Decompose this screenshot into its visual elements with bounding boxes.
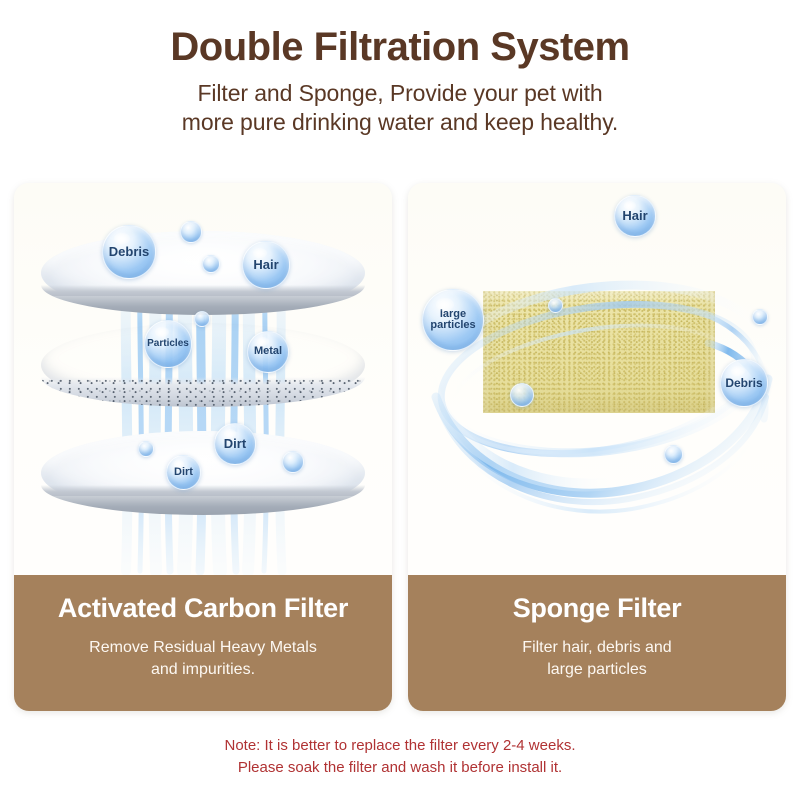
note-line-1: Note: It is better to replace the filter… xyxy=(0,735,800,757)
bubble-label-hair: Hair xyxy=(614,195,656,237)
decorative-bubble-1 xyxy=(180,221,202,243)
bubble-label-debris: Debris xyxy=(720,359,768,407)
filter-layer-cotton-top xyxy=(41,231,365,315)
bubble-label-particles: Particles xyxy=(144,320,192,368)
subtitle-line-1: Filter and Sponge, Provide your pet with xyxy=(0,79,800,108)
sponge-filter-caption-band: Sponge Filter Filter hair, debris and la… xyxy=(408,575,786,711)
decorative-bubble-9 xyxy=(664,445,683,464)
bubble-label-metal: Metal xyxy=(247,331,289,373)
bubble-label-debris-top: Debris xyxy=(102,225,156,279)
decorative-bubble-3 xyxy=(194,311,210,327)
activated-carbon-title: Activated Carbon Filter xyxy=(14,594,392,624)
sponge-filter-description: Filter hair, debris and large particles xyxy=(408,624,786,682)
header: Double Filtration System Filter and Spon… xyxy=(0,0,800,137)
subtitle-line-2: more pure drinking water and keep health… xyxy=(0,108,800,137)
note-line-2: Please soak the filter and wash it befor… xyxy=(0,757,800,779)
sponge-assembly: Hair large particles Debris xyxy=(408,183,786,575)
decorative-bubble-8 xyxy=(752,309,768,325)
sponge-filter-illustration: Hair large particles Debris xyxy=(408,183,786,575)
bubble-label-hair-top: Hair xyxy=(242,241,290,289)
activated-carbon-description: Remove Residual Heavy Metals and impurit… xyxy=(14,624,392,682)
filter-cards-container: Debris Hair Particles Metal Dirt Dirt Ac… xyxy=(14,183,786,711)
decorative-bubble-2 xyxy=(202,255,220,273)
bubble-label-dirt-lower: Dirt xyxy=(166,455,201,490)
card-sponge-filter[interactable]: Hair large particles Debris Sponge Filte… xyxy=(408,183,786,711)
sponge-filter-desc-line-1: Filter hair, debris and xyxy=(408,637,786,660)
bubble-label-dirt-upper: Dirt xyxy=(214,423,256,465)
decorative-bubble-5 xyxy=(282,451,304,473)
activated-carbon-illustration: Debris Hair Particles Metal Dirt Dirt xyxy=(14,183,392,575)
sponge-filter-title: Sponge Filter xyxy=(408,594,786,624)
decorative-bubble-7 xyxy=(510,383,534,407)
bottom-disc-rim xyxy=(41,485,365,515)
filter-layer-cotton-bottom xyxy=(41,431,365,515)
decorative-bubble-6 xyxy=(548,298,563,313)
card-activated-carbon-filter[interactable]: Debris Hair Particles Metal Dirt Dirt Ac… xyxy=(14,183,392,711)
page-subtitle: Filter and Sponge, Provide your pet with… xyxy=(0,69,800,137)
filter-layer-activated-carbon xyxy=(41,323,365,407)
activated-carbon-caption-band: Activated Carbon Filter Remove Residual … xyxy=(14,575,392,711)
bubble-label-large-particles: large particles xyxy=(422,289,484,351)
replacement-note: Note: It is better to replace the filter… xyxy=(0,735,800,779)
sponge-filter-desc-line-2: large particles xyxy=(408,659,786,682)
activated-carbon-desc-line-1: Remove Residual Heavy Metals xyxy=(14,637,392,660)
page-title: Double Filtration System xyxy=(0,0,800,69)
carbon-disc-rim xyxy=(41,377,365,407)
decorative-bubble-4 xyxy=(138,441,154,457)
activated-carbon-desc-line-2: and impurities. xyxy=(14,659,392,682)
